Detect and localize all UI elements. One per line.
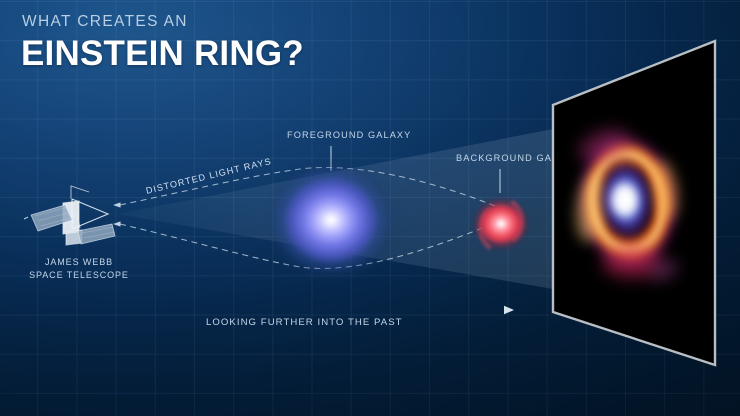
label-james-webb-space-telescope: JAMES WEBB SPACE TELESCOPE bbox=[25, 256, 133, 282]
label-timeline: LOOKING FURTHER INTO THE PAST bbox=[206, 316, 403, 330]
title-kicker: WHAT CREATES AN bbox=[22, 14, 304, 30]
label-foreground-galaxy: FOREGROUND GALAXY bbox=[287, 129, 411, 142]
sunshield-lower bbox=[78, 224, 115, 244]
panel-frame bbox=[540, 30, 740, 380]
title-headline: EINSTEIN RING? bbox=[21, 36, 304, 71]
core-hotspot bbox=[612, 185, 636, 215]
infographic-canvas: WHAT CREATES AN EINSTEIN RING? FOREGROUN… bbox=[0, 0, 740, 416]
label-jwst-line2: SPACE TELESCOPE bbox=[25, 269, 133, 282]
page-title: WHAT CREATES AN EINSTEIN RING? bbox=[21, 14, 304, 71]
einstein-ring-photo-panel bbox=[540, 30, 740, 380]
label-jwst-line1: JAMES WEBB bbox=[25, 256, 133, 269]
